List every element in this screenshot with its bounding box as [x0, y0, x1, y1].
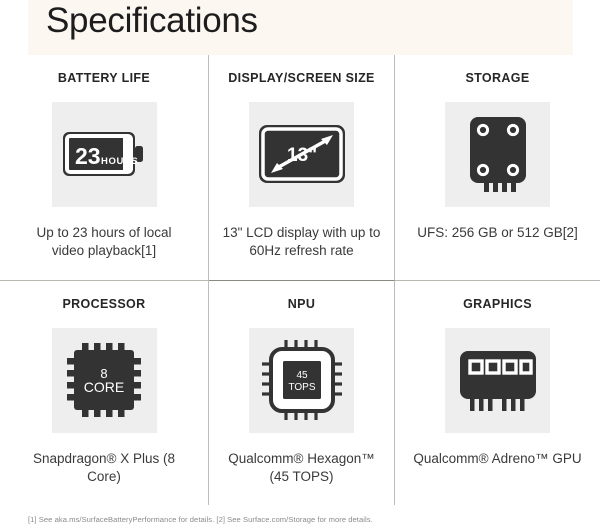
spec-label-storage: STORAGE [465, 72, 529, 86]
npu-tops-value: 45 [296, 370, 308, 381]
icon-tile-battery-life: 23 HOURS [52, 102, 157, 207]
spec-description-graphics: Qualcomm® Adreno™ GPU [403, 450, 593, 469]
icon-tile-npu: 45 TOPS [249, 328, 354, 433]
storage-chip-icon [467, 115, 529, 193]
graphics-chip-icon [457, 347, 539, 413]
spec-label-npu: NPU [288, 298, 315, 312]
npu-tops-unit: TOPS [288, 382, 315, 393]
spec-description-processor: Snapdragon® X Plus (8 Core) [20, 450, 188, 487]
icon-tile-display-screen-size: 13" [249, 102, 354, 207]
spec-cell-npu: NPU 45 TOPS Qualcomm® Hexagon™ ( [209, 280, 395, 505]
battery-icon: 23 HOURS [61, 128, 147, 180]
spec-label-processor: PROCESSOR [62, 298, 145, 312]
icon-tile-storage [445, 102, 550, 207]
page-title: Specifications [46, 3, 258, 38]
icon-tile-graphics [445, 328, 550, 433]
processor-core-label: CORE [84, 379, 124, 395]
spec-description-battery-life: Up to 23 hours of local video playback[1… [20, 224, 188, 261]
screen-size-value: 13" [287, 145, 317, 166]
processor-chip-icon: 8 CORE [64, 340, 144, 420]
spec-cell-processor: PROCESSOR 8 CORE Snapdragon® X Plus (8 C… [0, 280, 209, 505]
specifications-grid: BATTERY LIFE 23 HOURS Up to 23 hours of … [0, 55, 600, 505]
spec-description-npu: Qualcomm® Hexagon™ (45 TOPS) [218, 450, 386, 487]
footnote-disclaimer: [1] See aka.ms/SurfaceBatteryPerformance… [28, 515, 578, 525]
spec-label-display-screen-size: DISPLAY/SCREEN SIZE [228, 72, 375, 86]
spec-cell-display-screen-size: DISPLAY/SCREEN SIZE 13" 13" LCD display … [209, 55, 395, 280]
spec-cell-graphics: GRAPHICS Qualcomm [395, 280, 600, 505]
screen-size-icon: 13" [257, 122, 347, 186]
spec-cell-storage: STORAGE UFS: 256 GB or 512 GB[2] [395, 55, 600, 280]
spec-description-storage: UFS: 256 GB or 512 GB[2] [403, 224, 593, 243]
specifications-header: Specifications [28, 0, 573, 55]
icon-tile-processor: 8 CORE [52, 328, 157, 433]
battery-hours-unit: HOURS [101, 156, 138, 167]
npu-chip-icon: 45 TOPS [260, 338, 344, 422]
battery-hours-value: 23 [75, 143, 101, 169]
spec-label-battery-life: BATTERY LIFE [58, 72, 150, 86]
spec-label-graphics: GRAPHICS [463, 298, 532, 312]
spec-description-display-screen-size: 13" LCD display with up to 60Hz refresh … [218, 224, 386, 261]
spec-cell-battery-life: BATTERY LIFE 23 HOURS Up to 23 hours of … [0, 55, 209, 280]
